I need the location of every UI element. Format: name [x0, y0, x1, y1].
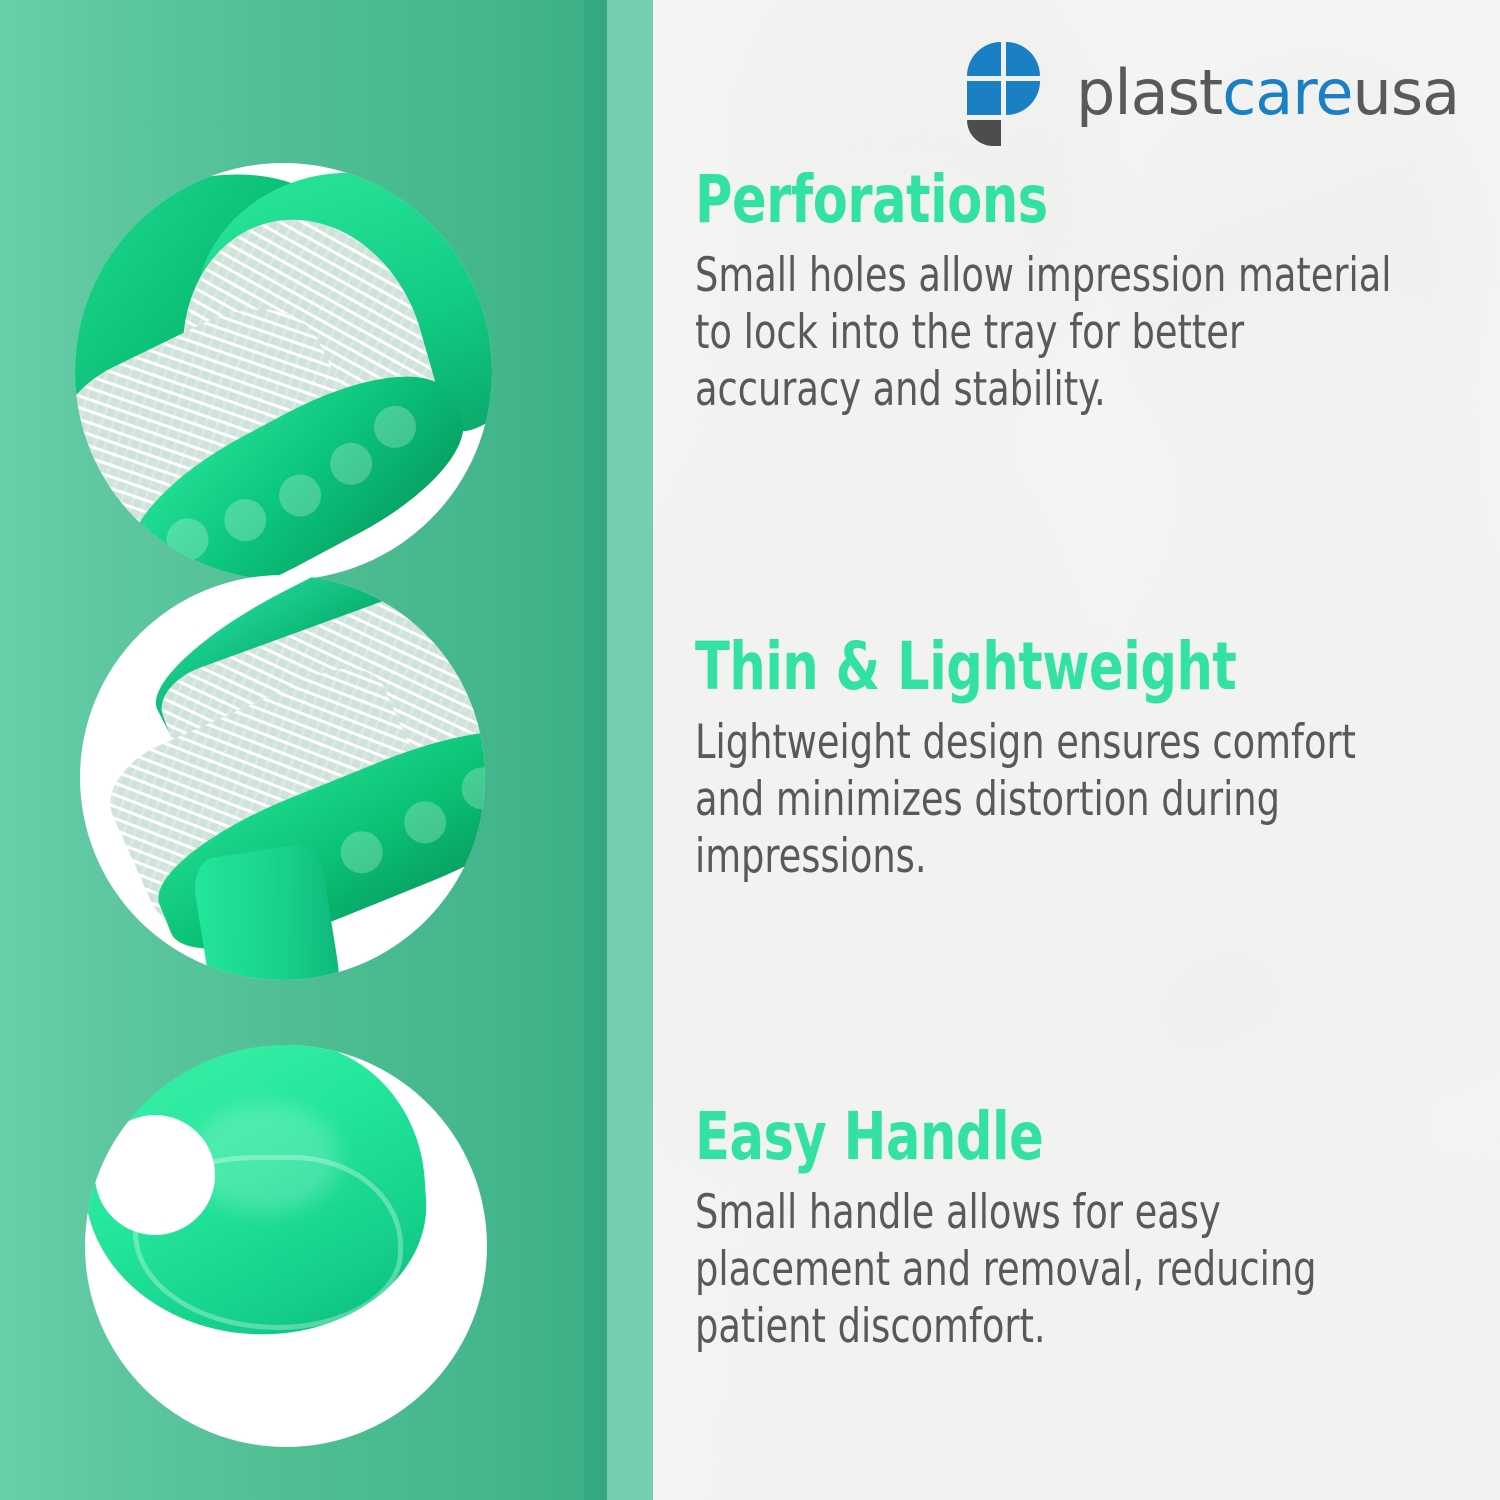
- feature-title: Easy Handle: [695, 1105, 1323, 1170]
- feature-title: Thin & Lightweight: [695, 635, 1323, 700]
- feature-description: Small handle allows for easy placement a…: [695, 1184, 1417, 1356]
- feature-item-thin-lightweight: Thin & Lightweight Lightweight design en…: [695, 635, 1425, 886]
- feature-description: Small holes allow impression material to…: [695, 247, 1417, 419]
- feature-item-perforations: Perforations Small holes allow impressio…: [695, 168, 1425, 419]
- product-image-perforations: [75, 163, 492, 580]
- product-image-thin-profile: [80, 575, 485, 980]
- feature-title: Perforations: [695, 168, 1323, 233]
- product-image-handle: [85, 1045, 487, 1447]
- panel-stripe-dark: [584, 0, 607, 1500]
- feature-list: Perforations Small holes allow impressio…: [695, 0, 1455, 1500]
- panel-stripe-light: [607, 0, 653, 1500]
- infographic-canvas: plastcareusa Perforations Small holes al…: [0, 0, 1500, 1500]
- product-gallery-panel: [0, 0, 653, 1500]
- feature-item-easy-handle: Easy Handle Small handle allows for easy…: [695, 1105, 1425, 1356]
- tray-handle-highlight: [190, 1103, 340, 1213]
- feature-description: Lightweight design ensures comfort and m…: [695, 714, 1417, 886]
